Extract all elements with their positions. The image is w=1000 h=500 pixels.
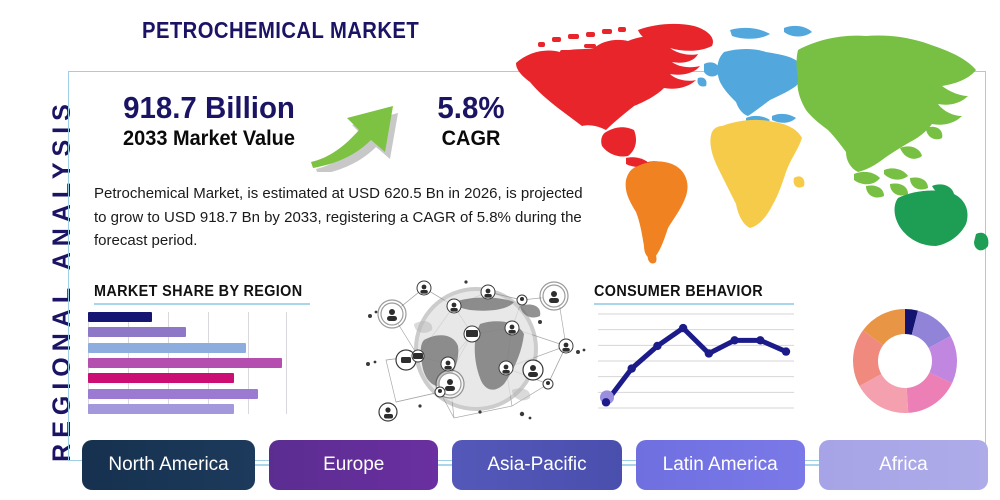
line-chart-marker xyxy=(756,336,764,344)
page-title: PETROCHEMICAL MARKET xyxy=(142,17,419,44)
line-chart-marker xyxy=(730,336,738,344)
summary-paragraph: Petrochemical Market, is estimated at US… xyxy=(94,182,586,253)
bar-chart-bar xyxy=(88,312,152,322)
region-chip-north-america[interactable]: North America xyxy=(82,440,255,490)
chip-connector xyxy=(438,464,452,466)
line-chart-marker xyxy=(679,324,687,332)
map-region-africa xyxy=(710,120,804,228)
consumer-behavior-rule xyxy=(594,303,794,305)
bar-chart-bar xyxy=(88,404,234,414)
growth-arrow-icon xyxy=(311,86,421,172)
region-chip-africa[interactable]: Africa xyxy=(819,440,988,490)
kpi-market-value-number: 918.7 Billion xyxy=(102,92,317,125)
map-region-asia xyxy=(797,35,977,197)
kpi-market-value-label: 2033 Market Value xyxy=(102,127,317,151)
bar-chart-bar xyxy=(88,327,186,337)
market-share-rule xyxy=(94,303,310,305)
consumer-behavior-line-chart xyxy=(598,308,794,416)
map-region-europe xyxy=(697,26,812,125)
kpi-row: 918.7 Billion 2033 Market Value 5.8% CAG… xyxy=(96,92,516,168)
line-chart-marker xyxy=(653,342,661,350)
line-chart-marker xyxy=(628,364,636,372)
kpi-cagr-number: 5.8% xyxy=(409,92,533,125)
map-region-north-america xyxy=(516,24,713,171)
region-chip-europe[interactable]: Europe xyxy=(269,440,438,490)
regional-share-donut-chart xyxy=(851,307,959,415)
chip-connector xyxy=(622,464,636,466)
kpi-cagr-label: CAGR xyxy=(409,127,533,151)
consumer-behavior-heading: CONSUMER BEHAVIOR xyxy=(594,283,763,301)
market-share-heading: MARKET SHARE BY REGION xyxy=(94,283,302,301)
infographic-canvas: REGIONAL ANALYSIS PETROCHEMICAL MARKET xyxy=(0,0,1000,500)
bar-chart-bar xyxy=(88,389,258,399)
kpi-market-value: 918.7 Billion 2033 Market Value xyxy=(96,92,322,151)
line-chart-marker xyxy=(782,347,790,355)
bar-chart-bar xyxy=(88,343,246,353)
chip-connector xyxy=(255,464,269,466)
bar-chart-bar xyxy=(88,358,282,368)
kpi-cagr: 5.8% CAGR xyxy=(406,92,536,151)
bar-chart-bars xyxy=(88,312,288,414)
global-network-users-icon xyxy=(362,272,590,427)
chip-connector xyxy=(805,464,819,466)
line-chart-marker xyxy=(602,398,610,406)
bar-chart-bar xyxy=(88,373,234,383)
market-share-bar-chart xyxy=(88,312,288,414)
map-region-south-america xyxy=(626,162,688,264)
region-chip-bar[interactable]: North AmericaEuropeAsia-PacificLatin Ame… xyxy=(82,440,988,490)
region-chip-asia-pacific[interactable]: Asia-Pacific xyxy=(452,440,621,490)
region-chip-latin-america[interactable]: Latin America xyxy=(636,440,805,490)
map-region-oceania xyxy=(895,184,989,250)
line-chart-marker xyxy=(705,349,713,357)
